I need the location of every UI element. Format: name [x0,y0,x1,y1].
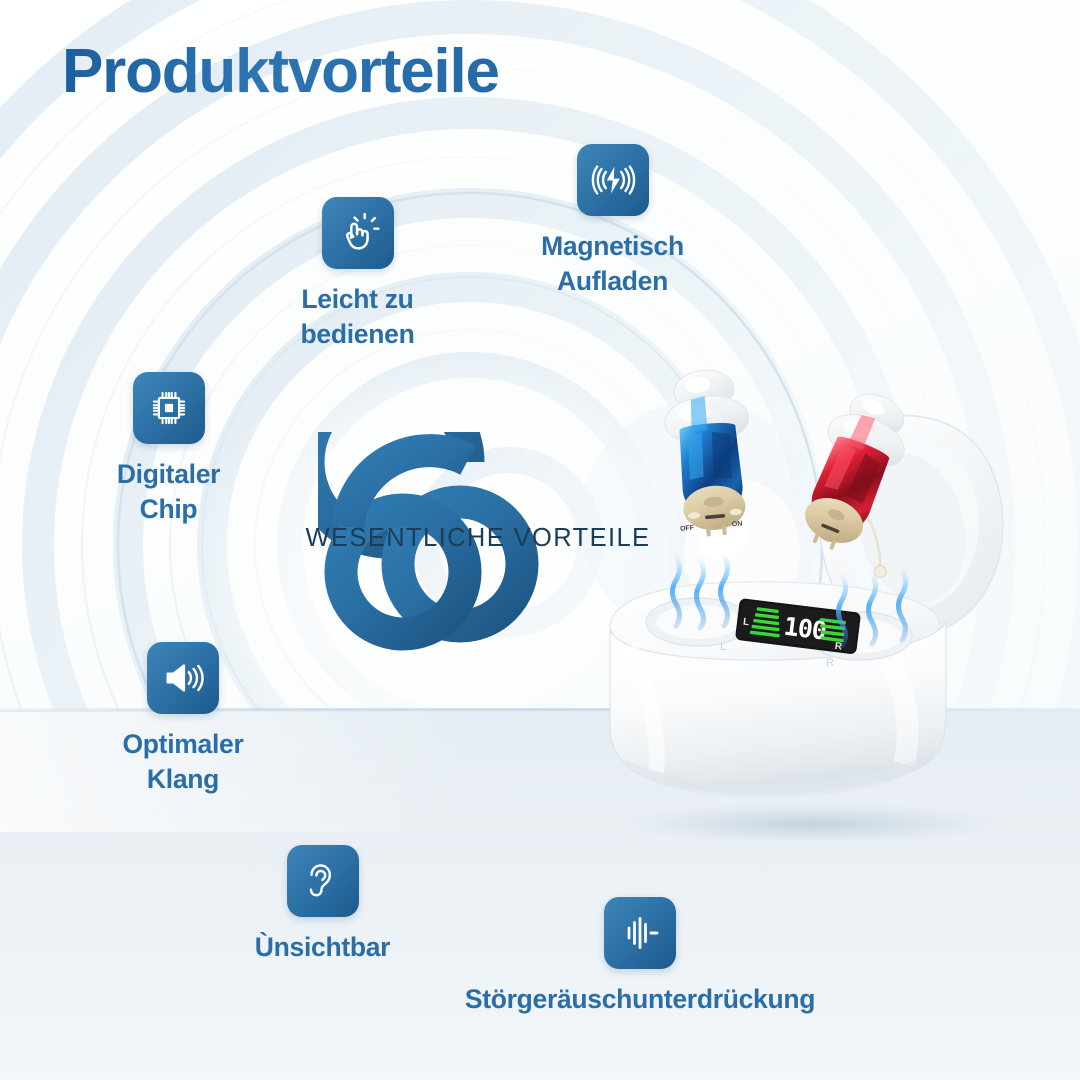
chip-icon [133,372,205,444]
page-title: Produktvorteile [62,36,499,107]
svg-text:L: L [720,641,726,653]
feature-label: Ùnsichtbar [255,930,390,965]
switch-off-label: OFF [680,525,695,533]
display-battery-value: 100 [782,612,827,646]
feature-stoergeraeuschunterdrueckung[interactable]: Störgeräuschunterdrückung [400,897,880,1017]
tap-gesture-icon [322,197,394,269]
feature-label: Optimaler Klang [122,727,243,797]
feature-digitaler-chip[interactable]: Digitaler Chip [76,372,261,527]
feature-label: Störgeräuschunterdrückung [465,982,815,1017]
noise-cancelling-icon [604,897,676,969]
feature-label: Leicht zu bedienen [301,282,415,352]
feature-leicht-zu-bedienen[interactable]: Leicht zu bedienen [250,197,465,352]
feature-magnetisch-aufladen[interactable]: Magnetisch Aufladen [495,144,730,299]
charging-case-with-hearing-aids-graphic: L R L 100 [590,360,1060,840]
wireless-charging-icon [577,144,649,216]
feature-label: Digitaler Chip [117,457,220,527]
switch-on-label: ON [732,520,743,528]
feature-unsichtbar[interactable]: Ùnsichtbar [230,845,415,965]
speaker-icon [147,642,219,714]
product-image: L R L 100 [590,360,1060,840]
ear-icon [287,845,359,917]
feature-optimaler-klang[interactable]: Optimaler Klang [88,642,278,797]
svg-text:R: R [826,657,834,669]
infographic-canvas: Produktvorteile [0,0,1080,1080]
feature-label: Magnetisch Aufladen [541,229,684,299]
